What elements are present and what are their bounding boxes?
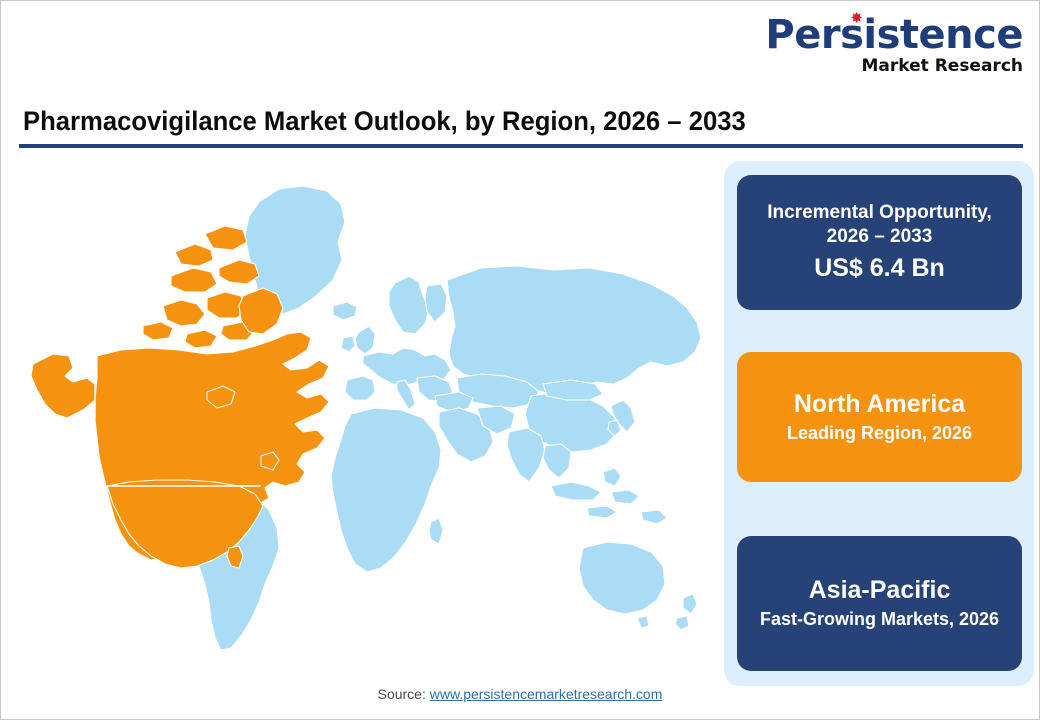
card-opportunity-line2: 2026 – 2033 bbox=[827, 225, 933, 249]
card-leading-heading: North America bbox=[794, 389, 965, 420]
source-label: Source: bbox=[378, 686, 430, 702]
logo-brand-label: Persistence bbox=[765, 12, 1023, 58]
source-link[interactable]: www.persistencemarketresearch.com bbox=[430, 686, 663, 702]
card-opportunity-value: US$ 6.4 Bn bbox=[814, 252, 945, 285]
card-leading-subtitle: Leading Region, 2026 bbox=[787, 422, 972, 445]
card-fast-growing-markets[interactable]: Asia-Pacific Fast-Growing Markets, 2026 bbox=[737, 536, 1022, 671]
card-incremental-opportunity[interactable]: Incremental Opportunity, 2026 – 2033 US$… bbox=[737, 175, 1022, 310]
card-growing-subtitle: Fast-Growing Markets, 2026 bbox=[760, 608, 999, 631]
world-map bbox=[11, 156, 711, 681]
star-icon: ✸ bbox=[849, 12, 862, 25]
world-map-svg bbox=[11, 156, 711, 681]
title-divider bbox=[19, 144, 1023, 148]
company-logo: Persistence ✸ Market Research bbox=[765, 15, 1023, 75]
infographic-page: Persistence ✸ Market Research Pharmacovi… bbox=[0, 0, 1040, 720]
card-leading-region[interactable]: North America Leading Region, 2026 bbox=[737, 352, 1022, 482]
card-growing-heading: Asia-Pacific bbox=[809, 575, 951, 606]
source-footer: Source: www.persistencemarketresearch.co… bbox=[1, 686, 1039, 702]
card-opportunity-line1: Incremental Opportunity, bbox=[767, 201, 992, 225]
logo-tagline: Market Research bbox=[765, 58, 1023, 75]
page-title: Pharmacovigilance Market Outlook, by Reg… bbox=[23, 106, 746, 137]
stats-panel: Incremental Opportunity, 2026 – 2033 US$… bbox=[724, 161, 1034, 686]
logo-brand-text: Persistence ✸ bbox=[765, 15, 1023, 55]
